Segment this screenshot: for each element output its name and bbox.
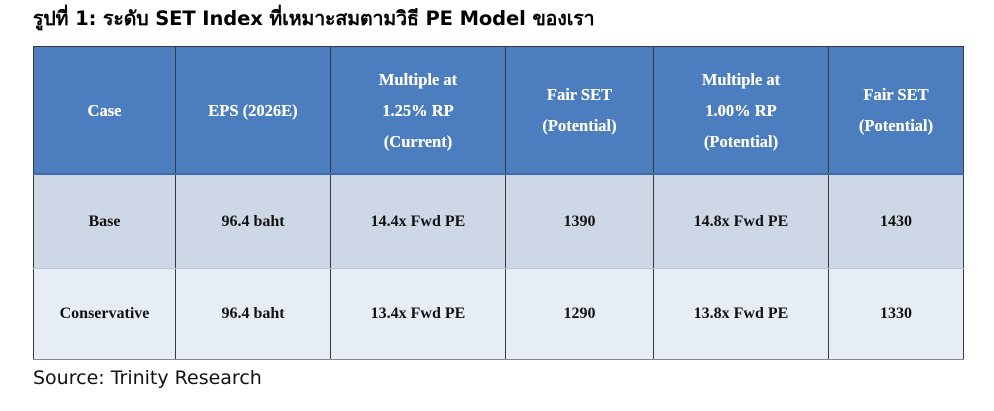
header-line: Multiple at [654,64,828,95]
header-row: Case EPS (2026E) Multiple at 1.25% RP (C… [34,47,964,175]
header-line: 1.25% RP [331,95,505,126]
header-line: (Potential) [506,110,653,141]
cell-multiple-125: 14.4x Fwd PE [331,174,506,269]
cell-eps: 96.4 baht [176,174,331,269]
table-header: Case EPS (2026E) Multiple at 1.25% RP (C… [34,47,964,175]
table-body: Base 96.4 baht 14.4x Fwd PE 1390 14.8x F… [34,174,964,360]
header-line: Case [34,95,175,126]
header-line: Fair SET [829,79,963,110]
set-index-pe-model-table: Case EPS (2026E) Multiple at 1.25% RP (C… [33,46,964,360]
header-line: Multiple at [331,64,505,95]
figure-panel: รูปที่ 1: ระดับ SET Index ที่เหมาะสมตามว… [0,0,994,411]
cell-fair-set-current: 1390 [506,174,654,269]
header-line: (Potential) [654,126,828,157]
table-container: Case EPS (2026E) Multiple at 1.25% RP (C… [33,46,963,360]
column-header-case: Case [34,47,176,175]
cell-eps: 96.4 baht [176,269,331,360]
header-line: (Current) [331,126,505,157]
cell-case: Conservative [34,269,176,360]
header-line: Fair SET [506,79,653,110]
source-caption: Source: Trinity Research [33,367,262,389]
column-header-multiple-125-rp: Multiple at 1.25% RP (Current) [331,47,506,175]
header-line: (Potential) [829,110,963,141]
header-line: 1.00% RP [654,95,828,126]
table-row: Base 96.4 baht 14.4x Fwd PE 1390 14.8x F… [34,174,964,269]
header-line: EPS (2026E) [176,95,330,126]
column-header-eps: EPS (2026E) [176,47,331,175]
cell-fair-set-current: 1290 [506,269,654,360]
table-row: Conservative 96.4 baht 13.4x Fwd PE 1290… [34,269,964,360]
cell-fair-set-potential: 1330 [829,269,964,360]
column-header-fair-set-current: Fair SET (Potential) [506,47,654,175]
cell-case: Base [34,174,176,269]
figure-title: รูปที่ 1: ระดับ SET Index ที่เหมาะสมตามว… [33,6,963,32]
cell-fair-set-potential: 1430 [829,174,964,269]
column-header-multiple-100-rp: Multiple at 1.00% RP (Potential) [654,47,829,175]
cell-multiple-125: 13.4x Fwd PE [331,269,506,360]
column-header-fair-set-potential: Fair SET (Potential) [829,47,964,175]
cell-multiple-100: 13.8x Fwd PE [654,269,829,360]
cell-multiple-100: 14.8x Fwd PE [654,174,829,269]
